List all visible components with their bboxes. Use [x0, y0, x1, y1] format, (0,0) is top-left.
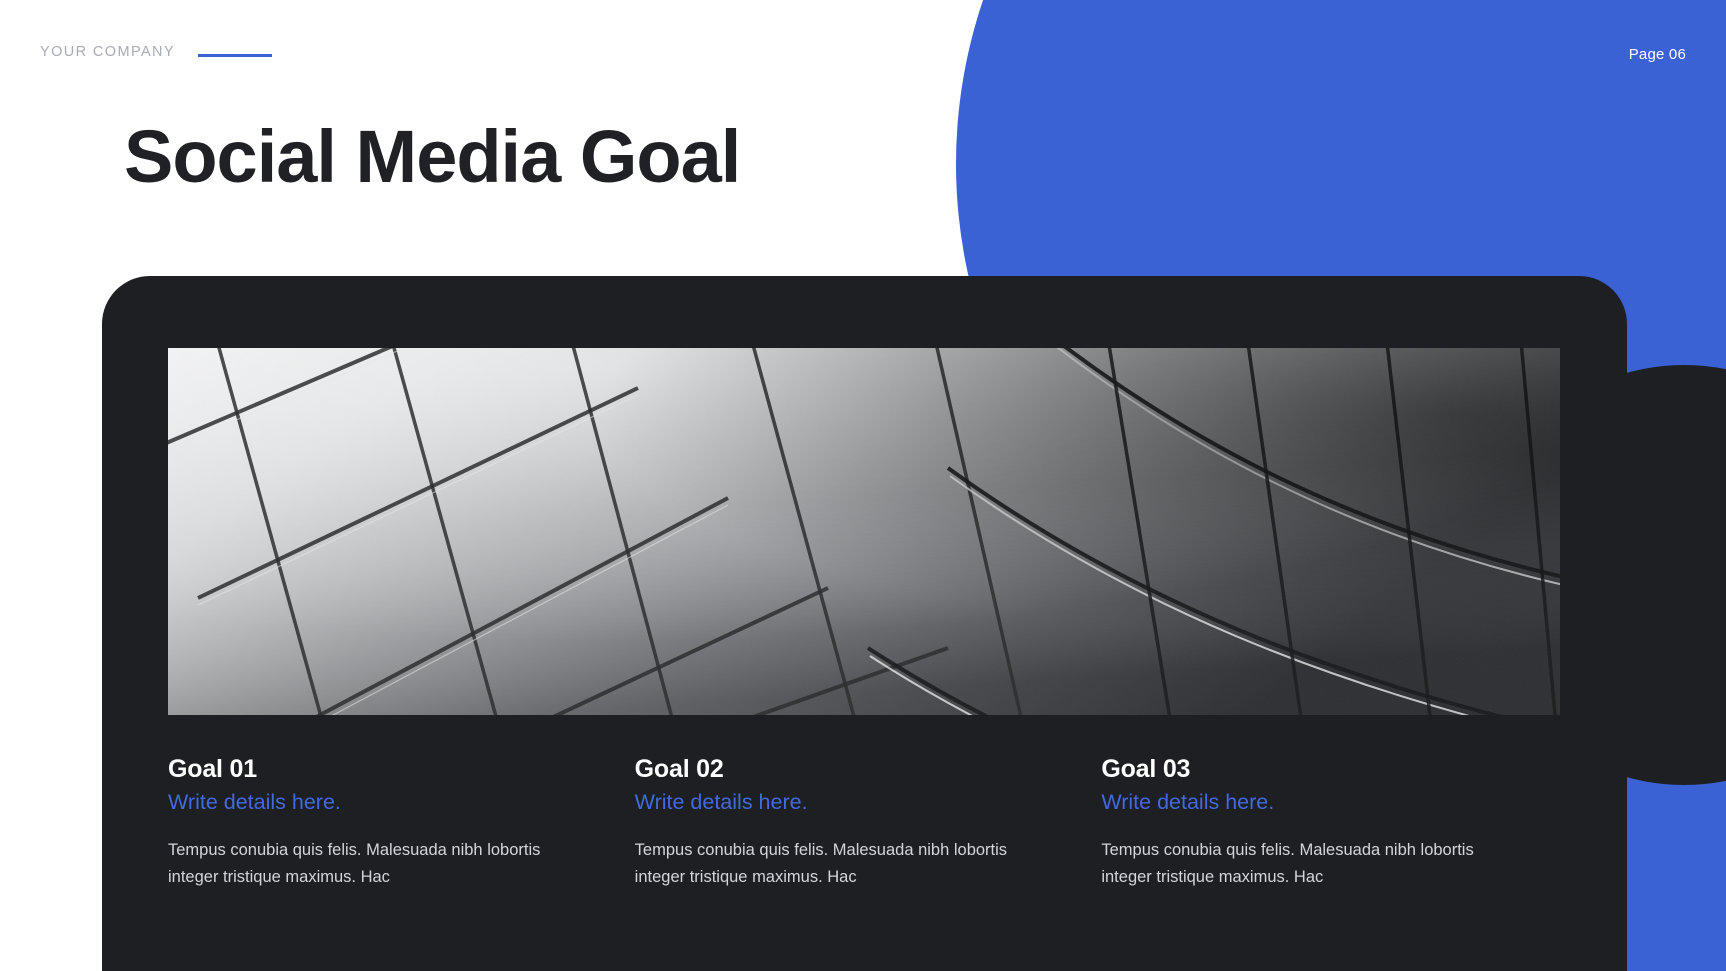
page-number-label: Page 06: [1629, 46, 1686, 63]
goal-item-1: Goal 01 Write details here. Tempus conub…: [168, 754, 635, 890]
goal-heading: Goal 02: [635, 754, 1102, 784]
goal-body-text: Tempus conubia quis felis. Malesuada nib…: [1101, 837, 1501, 890]
goal-item-3: Goal 03 Write details here. Tempus conub…: [1101, 754, 1568, 890]
goal-body-text: Tempus conubia quis felis. Malesuada nib…: [635, 837, 1035, 890]
goal-subheading: Write details here.: [168, 789, 635, 816]
slide-canvas: YOUR COMPANY Page 06 Social Media Goal: [0, 0, 1726, 971]
goal-item-2: Goal 02 Write details here. Tempus conub…: [635, 754, 1102, 890]
goal-subheading: Write details here.: [1101, 789, 1568, 816]
page-title: Social Media Goal: [124, 120, 740, 194]
goal-subheading: Write details here.: [635, 789, 1102, 816]
goal-heading: Goal 03: [1101, 754, 1568, 784]
slide-header: YOUR COMPANY Page 06: [0, 0, 1726, 100]
goal-heading: Goal 01: [168, 754, 635, 784]
goals-row: Goal 01 Write details here. Tempus conub…: [168, 754, 1568, 890]
content-panel: Goal 01 Write details here. Tempus conub…: [102, 276, 1627, 971]
header-accent-rule: [198, 54, 272, 57]
goal-body-text: Tempus conubia quis felis. Malesuada nib…: [168, 837, 568, 890]
hero-image: [168, 348, 1560, 715]
company-label: YOUR COMPANY: [40, 44, 175, 60]
architecture-grid-illustration: [168, 348, 1560, 715]
